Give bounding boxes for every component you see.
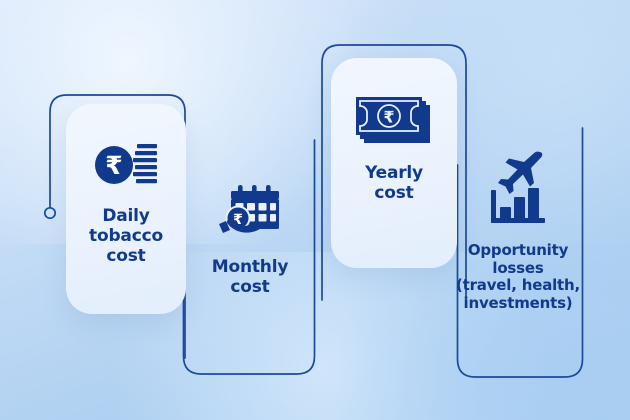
svg-text:₹: ₹ [105, 151, 122, 180]
step-label-yearly: Yearly cost [365, 163, 423, 203]
step-label-monthly: Monthly cost [212, 257, 288, 297]
calendar-hand-rupee-icon: ₹ [215, 185, 285, 241]
svg-text:₹: ₹ [383, 108, 394, 127]
connector-start-dot [45, 208, 55, 218]
rupee-coin-stack-icon: ₹ [95, 140, 157, 190]
rupee-banknote-stack-icon: ₹ [354, 95, 434, 149]
step-opportunity: Opportunity losses (travel, health, inve… [444, 150, 592, 313]
step-yearly: ₹ Yearly cost [327, 95, 461, 203]
step-label-opportunity: Opportunity losses (travel, health, inve… [456, 242, 580, 313]
infographic-canvas: ₹ Daily tobacco cost [0, 0, 630, 420]
step-monthly: ₹ Monthly cost [186, 185, 314, 297]
step-daily: ₹ Daily tobacco cost [60, 140, 192, 266]
airplane-bar-chart-icon [487, 150, 549, 226]
step-label-daily: Daily tobacco cost [89, 206, 163, 266]
